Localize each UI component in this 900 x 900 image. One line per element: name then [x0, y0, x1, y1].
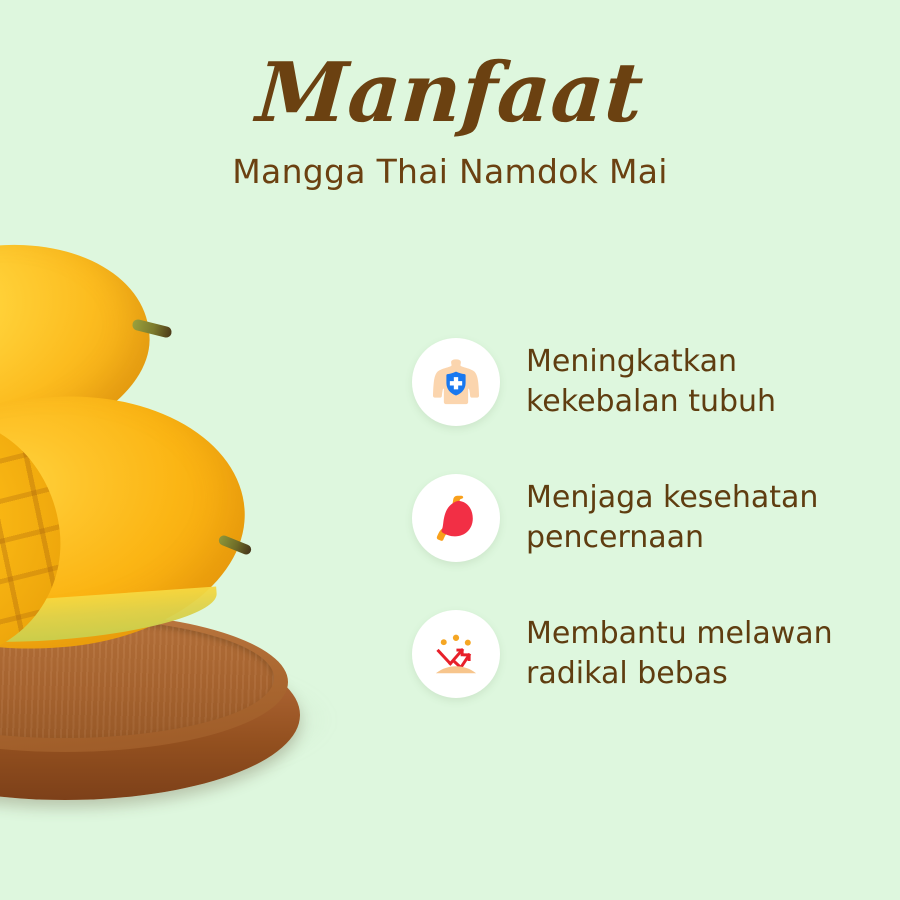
- benefit-line-2: kekebalan tubuh: [526, 382, 776, 423]
- benefit-line-1: Menjaga kesehatan: [526, 478, 818, 519]
- free-radical-dot-center: [453, 635, 459, 641]
- benefit-label-immunity: Meningkatkan kekebalan tubuh: [526, 342, 776, 423]
- benefit-label-antioxidant: Membantu melawan radikal bebas: [526, 614, 833, 695]
- page-subtitle: Mangga Thai Namdok Mai: [0, 152, 900, 191]
- benefit-line-1: Meningkatkan: [526, 342, 776, 383]
- poster-header: Manfaat Mangga Thai Namdok Mai: [0, 0, 900, 191]
- free-radical-dot-left: [441, 639, 447, 645]
- benefit-line-1: Membantu melawan: [526, 614, 833, 655]
- benefit-item-antioxidant: Membantu melawan radikal bebas: [412, 610, 882, 698]
- body-shield-immunity-icon: [412, 338, 500, 426]
- benefit-item-immunity: Meningkatkan kekebalan tubuh: [412, 338, 882, 426]
- stomach-shape: [441, 501, 472, 537]
- benefit-label-digestion: Menjaga kesehatan pencernaan: [526, 478, 818, 559]
- antioxidant-free-radical-icon: [412, 610, 500, 698]
- deflection-arrows: [439, 650, 470, 668]
- free-radical-dot-right: [465, 640, 471, 646]
- mango-photograph: [0, 230, 420, 790]
- poster-canvas: Manfaat Mangga Thai Namdok Mai Meningkat…: [0, 0, 900, 900]
- benefit-item-digestion: Menjaga kesehatan pencernaan: [412, 474, 882, 562]
- benefit-line-2: radikal bebas: [526, 654, 833, 695]
- stomach-digestion-icon: [412, 474, 500, 562]
- benefits-list: Meningkatkan kekebalan tubuh Menjaga kes…: [412, 338, 882, 698]
- page-title: Manfaat: [0, 52, 900, 134]
- benefit-line-2: pencernaan: [526, 518, 818, 559]
- protective-surface-arc: [436, 666, 476, 673]
